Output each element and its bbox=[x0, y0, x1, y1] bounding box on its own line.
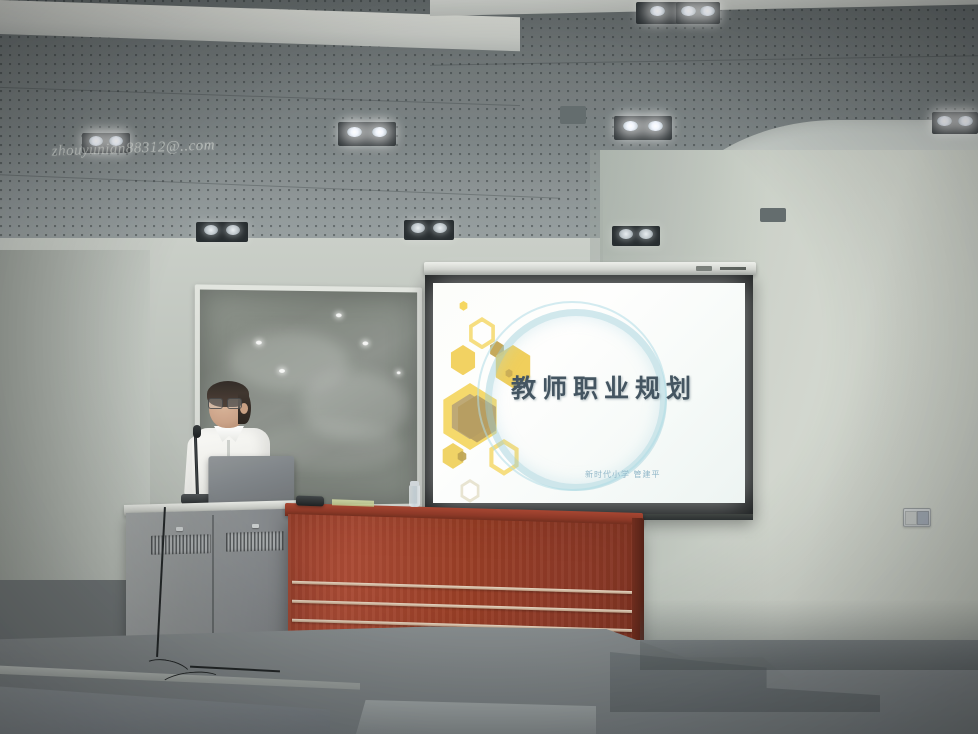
recessed-spotlight-center-4 bbox=[612, 226, 660, 246]
ceiling-vent-panel bbox=[560, 106, 586, 124]
lamp-bulb bbox=[648, 121, 663, 132]
cabinet-lock-left[interactable] bbox=[176, 527, 183, 531]
classroom-photo: zhouyunian88312@..com 教师职业规划 新时代小学 管建平 bbox=[0, 0, 978, 734]
lamp-bulb bbox=[204, 225, 218, 235]
lamp-bulb bbox=[411, 223, 425, 233]
recessed-spotlight-right-1 bbox=[932, 112, 978, 134]
lamp-bulb bbox=[433, 223, 447, 233]
lamp-bulb bbox=[623, 121, 638, 132]
slide-title: 教师职业规划 bbox=[511, 369, 697, 405]
blackboard-chalk-text: zhouyunian88312@..com bbox=[51, 136, 242, 177]
cabinet-lock-right[interactable] bbox=[252, 524, 259, 528]
lamp-bulb bbox=[372, 127, 387, 138]
ceiling-vent-panel-2 bbox=[760, 208, 786, 222]
lamp-bulb bbox=[650, 6, 665, 17]
lamp-bulb bbox=[958, 116, 973, 127]
recessed-spotlight-center-3 bbox=[404, 220, 454, 240]
slide-hexagon-inner bbox=[471, 322, 493, 345]
water-bottle-cap bbox=[410, 481, 419, 486]
lamp-bulb bbox=[639, 229, 653, 239]
lamp-bulb bbox=[937, 116, 952, 127]
lamp-bulb bbox=[700, 6, 715, 17]
recessed-spotlight-left-2 bbox=[196, 222, 248, 242]
recessed-spotlight-center-1 bbox=[338, 122, 396, 146]
slide-hexagon-inner bbox=[462, 482, 478, 499]
remote-control[interactable] bbox=[296, 496, 324, 507]
stage-shadow bbox=[640, 600, 978, 670]
lamp-bulb bbox=[681, 6, 696, 17]
projector-screen-housing[interactable] bbox=[424, 262, 756, 275]
screen-roller-knob bbox=[696, 266, 712, 271]
slide-hexagon-11 bbox=[459, 479, 481, 503]
slide-subtitle: 新时代小学 管建平 bbox=[585, 469, 661, 480]
switch-toggle-left[interactable] bbox=[905, 511, 917, 525]
lamp-bulb bbox=[619, 229, 633, 239]
screen-roller-bracket bbox=[720, 267, 746, 270]
lamp-bulb bbox=[226, 225, 240, 235]
slide-hexagon-0 bbox=[459, 301, 468, 311]
cabinet-vent bbox=[151, 534, 211, 555]
recessed-spotlight-top-right-1 bbox=[636, 2, 678, 24]
projector-screen-surface: 教师职业规划 新时代小学 管建平 bbox=[433, 283, 745, 503]
microphone-head bbox=[193, 425, 201, 438]
water-bottle[interactable] bbox=[409, 485, 420, 507]
recessed-spotlight-top-right-2 bbox=[676, 2, 720, 24]
projector-screen: 教师职业规划 新时代小学 管建平 bbox=[425, 275, 753, 518]
wall-switch-plate[interactable] bbox=[903, 508, 931, 527]
slide-hexagon-2 bbox=[449, 345, 477, 375]
recessed-spotlight-center-2 bbox=[614, 116, 672, 140]
laptop[interactable] bbox=[208, 456, 294, 506]
lamp-bulb bbox=[347, 127, 362, 138]
presenter-glasses bbox=[208, 398, 242, 408]
cabinet-vent bbox=[226, 531, 284, 552]
switch-toggle-right[interactable] bbox=[917, 511, 929, 525]
